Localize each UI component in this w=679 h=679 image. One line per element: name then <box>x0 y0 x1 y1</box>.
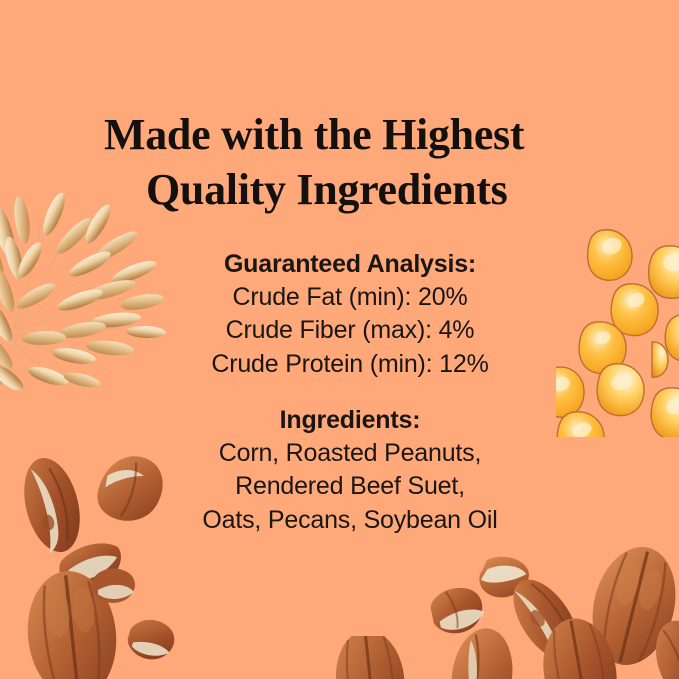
ingredients-line-3: Oats, Pecans, Soybean Oil <box>50 504 650 537</box>
pecan-nuts-right <box>398 544 679 679</box>
headline-line-2: Quality Ingredients <box>104 163 604 218</box>
guaranteed-analysis-block: Guaranteed Analysis: Crude Fat (min): 20… <box>50 248 650 381</box>
headline-line-1: Made with the Highest <box>104 108 604 163</box>
ingredients-line-2: Rendered Beef Suet, <box>50 470 650 503</box>
pecan-nuts-bottom-centre <box>318 636 438 679</box>
analysis-line-crude-fat: Crude Fat (min): 20% <box>50 281 650 314</box>
product-infographic: Made with the Highest Quality Ingredient… <box>0 0 679 679</box>
ingredients-line-1: Corn, Roasted Peanuts, <box>50 437 650 470</box>
ingredients-heading: Ingredients: <box>50 404 650 437</box>
ingredients-block: Ingredients: Corn, Roasted Peanuts, Rend… <box>50 404 650 537</box>
pecan-fragment-mid-left <box>84 556 144 604</box>
analysis-line-crude-fiber: Crude Fiber (max): 4% <box>50 314 650 347</box>
headline: Made with the Highest Quality Ingredient… <box>104 108 604 217</box>
analysis-heading: Guaranteed Analysis: <box>50 248 650 281</box>
analysis-line-crude-protein: Crude Protein (min): 12% <box>50 348 650 381</box>
